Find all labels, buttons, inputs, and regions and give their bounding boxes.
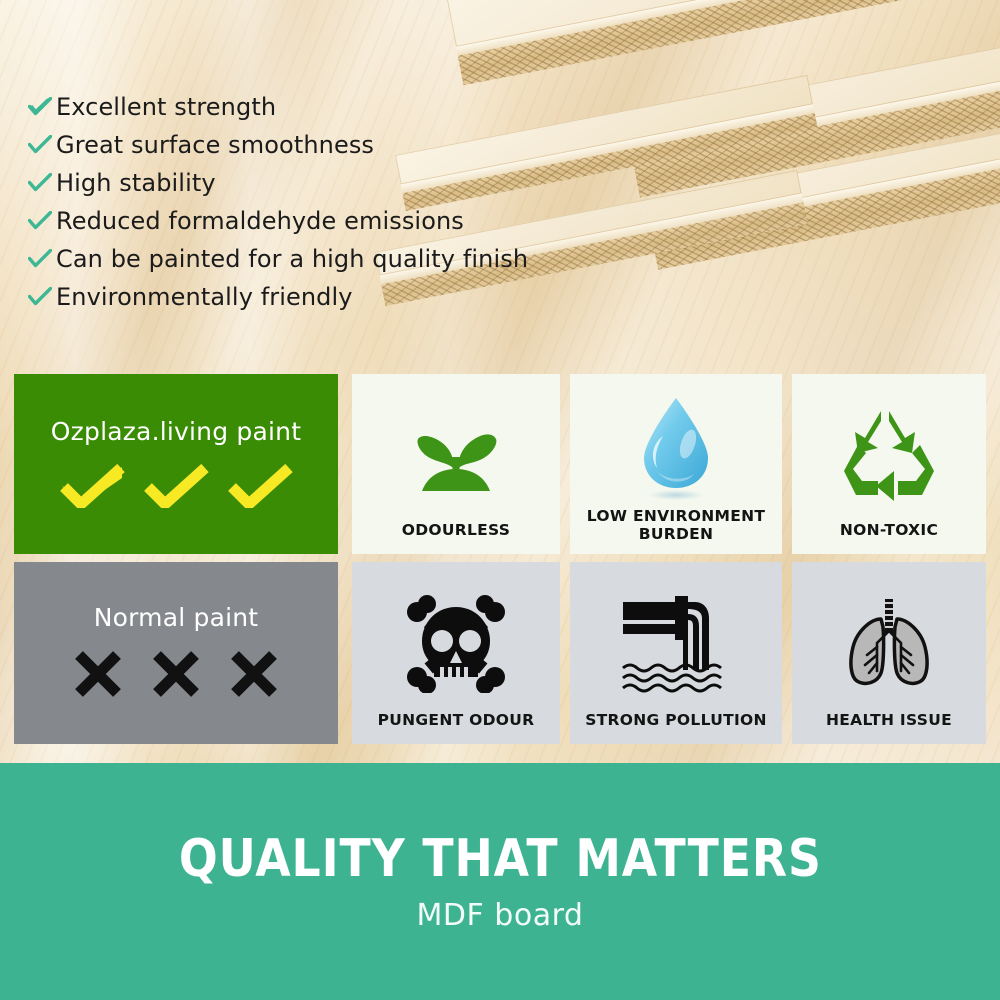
feature-card-label: NON-TOXIC <box>792 522 986 554</box>
list-item-label: High stability <box>56 169 216 197</box>
check-icon <box>59 464 125 512</box>
footer-subline: MDF board <box>417 901 584 931</box>
check-icon <box>28 173 56 193</box>
check-icon <box>28 135 56 155</box>
infographic-page: Excellent strength Great surface smoothn… <box>0 0 1000 1000</box>
list-item-label: Excellent strength <box>56 93 276 121</box>
water-drop-icon <box>570 388 782 508</box>
normal-cross-marks <box>72 648 280 704</box>
check-icon <box>28 249 56 269</box>
feature-card-label: LOW ENVIRONMENT BURDEN <box>570 508 782 554</box>
list-item: Reduced formaldehyde emissions <box>28 202 588 240</box>
check-icon <box>143 464 209 512</box>
feature-card-label: ODOURLESS <box>352 522 560 554</box>
list-item: Environmentally friendly <box>28 278 588 316</box>
list-item: Can be painted for a high quality finish <box>28 240 588 278</box>
list-item: High stability <box>28 164 588 202</box>
feature-card-non-toxic: NON-TOXIC <box>792 374 986 554</box>
feature-card-pungent-odour: PUNGENT ODOUR <box>352 562 560 744</box>
cross-icon <box>150 648 202 704</box>
list-item-label: Can be painted for a high quality finish <box>56 245 528 273</box>
brand-paint-title: Ozplaza.living paint <box>51 417 301 446</box>
list-item: Great surface smoothness <box>28 126 588 164</box>
normal-paint-title: Normal paint <box>94 603 259 632</box>
comparison-grid: Ozplaza.living paint <box>14 374 986 752</box>
feature-card-low-environment-burden: LOW ENVIRONMENT BURDEN <box>570 374 782 554</box>
normal-paint-panel: Normal paint <box>14 562 338 744</box>
feature-card-strong-pollution: STRONG POLLUTION <box>570 562 782 744</box>
feature-card-label: PUNGENT ODOUR <box>352 712 560 744</box>
pipe-pollution-icon <box>570 576 782 712</box>
footer-banner: QUALITY THAT MATTERS MDF board <box>0 763 1000 1000</box>
list-item-label: Great surface smoothness <box>56 131 374 159</box>
feature-card-health-issue: HEALTH ISSUE <box>792 562 986 744</box>
check-icon <box>28 287 56 307</box>
feature-card-label: HEALTH ISSUE <box>792 712 986 744</box>
check-icon <box>28 97 56 117</box>
footer-headline: QUALITY THAT MATTERS <box>178 833 821 885</box>
lungs-icon <box>792 576 986 712</box>
sprout-icon <box>352 388 560 522</box>
brand-paint-panel: Ozplaza.living paint <box>14 374 338 554</box>
check-icon <box>227 464 293 512</box>
list-item: Excellent strength <box>28 88 588 126</box>
feature-card-odourless: ODOURLESS <box>352 374 560 554</box>
brand-check-marks <box>59 464 293 512</box>
cross-icon <box>228 648 280 704</box>
list-item-label: Reduced formaldehyde emissions <box>56 207 464 235</box>
skull-crossbones-icon <box>352 576 560 712</box>
feature-list: Excellent strength Great surface smoothn… <box>28 88 588 316</box>
recycle-icon <box>792 388 986 522</box>
feature-card-label: STRONG POLLUTION <box>570 712 782 744</box>
cross-icon <box>72 648 124 704</box>
list-item-label: Environmentally friendly <box>56 283 353 311</box>
check-icon <box>28 211 56 231</box>
